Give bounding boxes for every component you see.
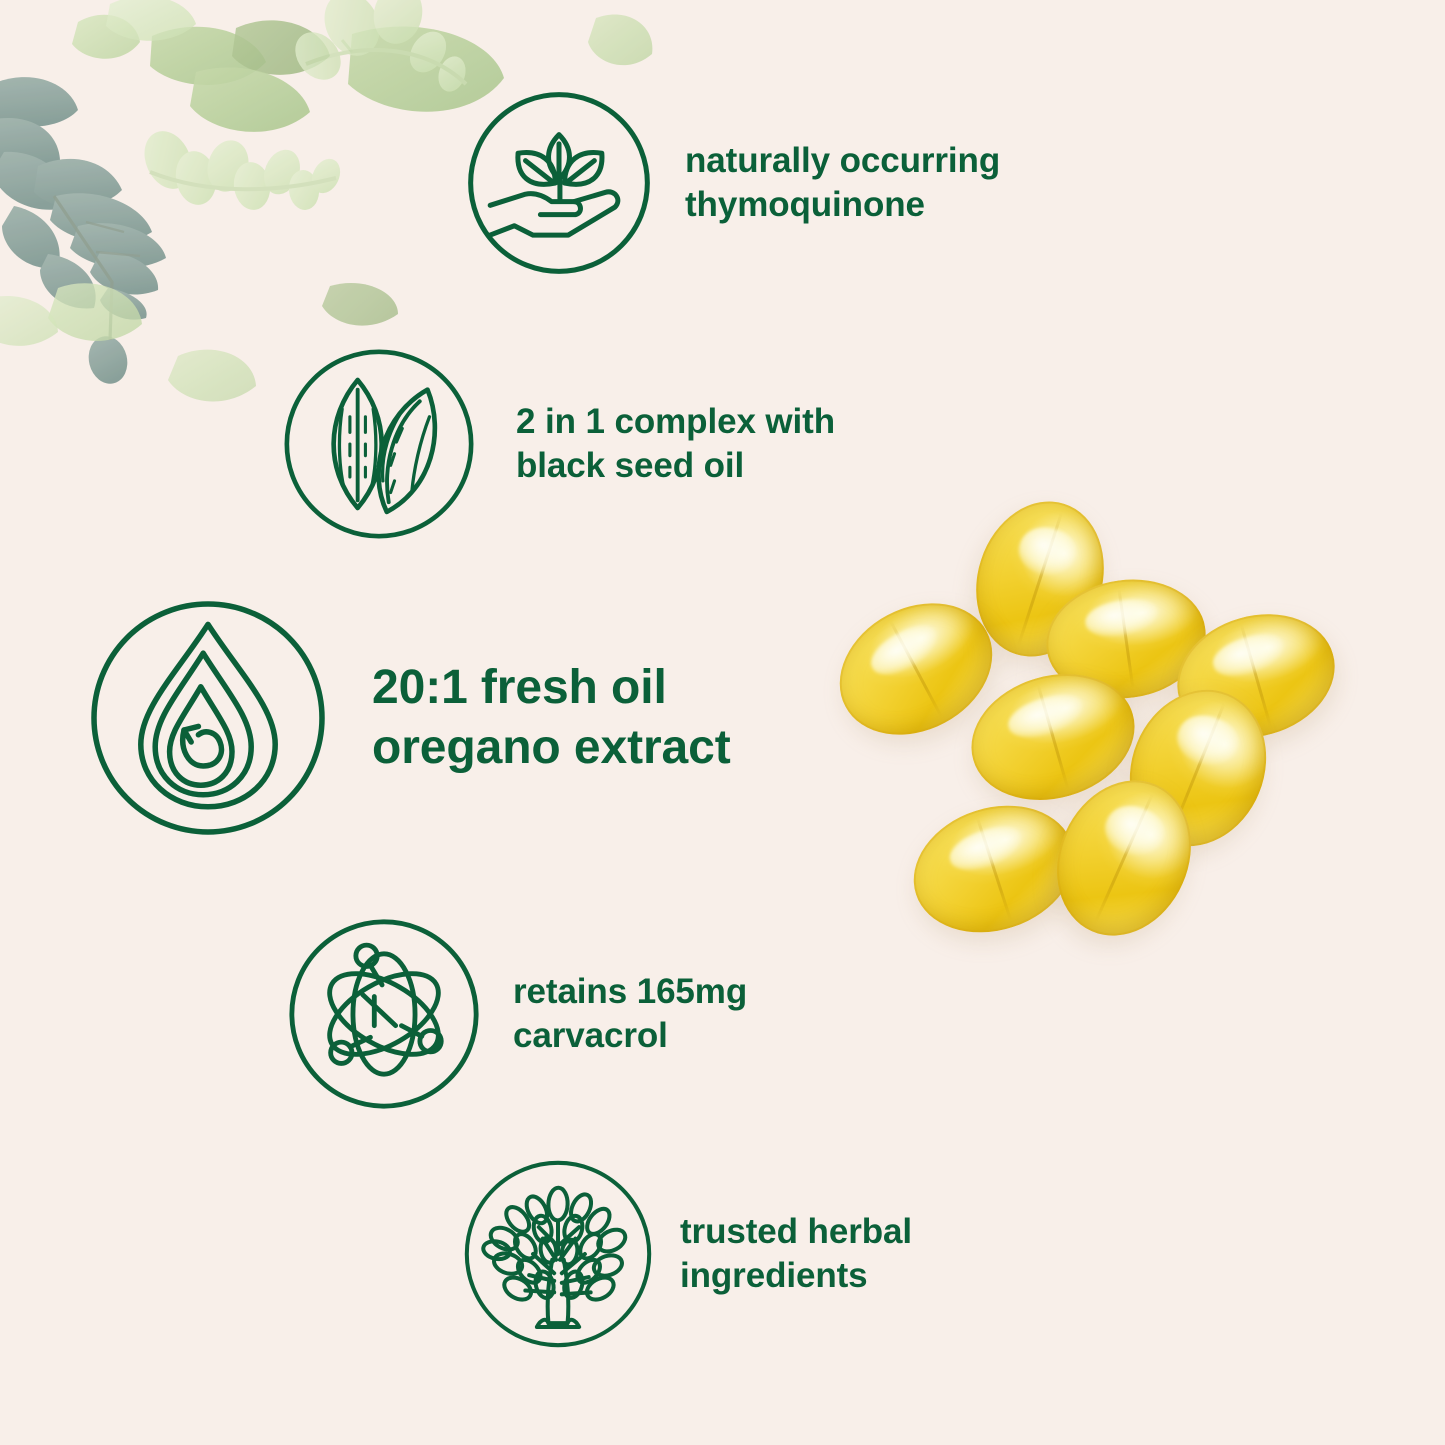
oil-droplet-spiral-icon	[88, 598, 328, 838]
benefit-label-thymoquinone: naturally occurring thymoquinone	[685, 139, 1000, 227]
hand-holding-sprout-icon	[466, 90, 652, 276]
benefit-row-thymoquinone: naturally occurring thymoquinone	[466, 90, 1000, 276]
atom-molecule-icon	[287, 917, 481, 1111]
oregano-oil-softgel-capsules	[828, 478, 1368, 948]
benefit-label-herbal-ingredients: trusted herbal ingredients	[680, 1210, 912, 1298]
infographic-canvas: naturally occurring thymoquinone	[0, 0, 1445, 1445]
benefit-row-carvacrol: retains 165mg carvacrol	[287, 917, 747, 1111]
benefit-row-oregano-extract: 20:1 fresh oil oregano extract	[88, 598, 731, 838]
benefit-label-carvacrol: retains 165mg carvacrol	[513, 970, 747, 1058]
benefit-row-black-seed-oil: 2 in 1 complex with black seed oil	[282, 347, 835, 541]
benefit-label-oregano-extract: 20:1 fresh oil oregano extract	[372, 658, 731, 779]
benefit-row-herbal-ingredients: trusted herbal ingredients	[462, 1158, 912, 1350]
benefit-label-black-seed-oil: 2 in 1 complex with black seed oil	[516, 400, 835, 488]
leafy-tree-icon	[462, 1158, 654, 1350]
black-seed-pods-icon	[282, 347, 476, 541]
